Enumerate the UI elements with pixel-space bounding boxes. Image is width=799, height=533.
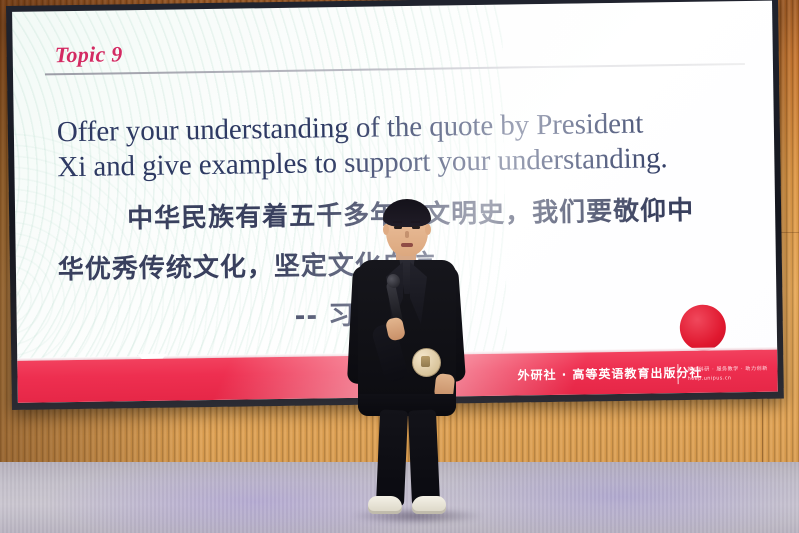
slide-english-line-2: Xi and give examples to support your und… — [57, 142, 668, 184]
slide-topic-label: Topic 9 — [55, 41, 123, 68]
presenter-eye-left — [394, 226, 402, 229]
presenter-eyebrow-right — [411, 221, 420, 223]
presenter-nose — [405, 231, 409, 238]
publisher-tagline: 推动科研 · 服务教学 · 助力创新 — [687, 365, 767, 373]
publisher-url: heep.unipus.cn — [688, 375, 732, 382]
presenter-shoe-right — [412, 496, 446, 514]
presenter-eyebrow-left — [393, 221, 402, 223]
presenter-shoe-left — [368, 496, 402, 514]
presenter-eye-right — [412, 226, 420, 229]
presenter-leg-left — [376, 409, 408, 506]
publisher-brand-text: 外研社 · 高等英语教育出版分社 — [517, 364, 702, 384]
presenter-ear-left — [383, 224, 389, 235]
presenter-ear-right — [425, 224, 431, 235]
slide-topic-divider — [45, 63, 745, 75]
red-circle-decoration-icon — [680, 304, 727, 351]
presenter-hair — [383, 199, 431, 227]
participant-badge-number — [421, 356, 430, 367]
presenter-leg-right — [408, 409, 440, 506]
presenter-figure — [334, 196, 484, 526]
presentation-scene: Topic 9 Offer your understanding of the … — [0, 0, 799, 533]
presenter-mouth — [401, 243, 413, 247]
